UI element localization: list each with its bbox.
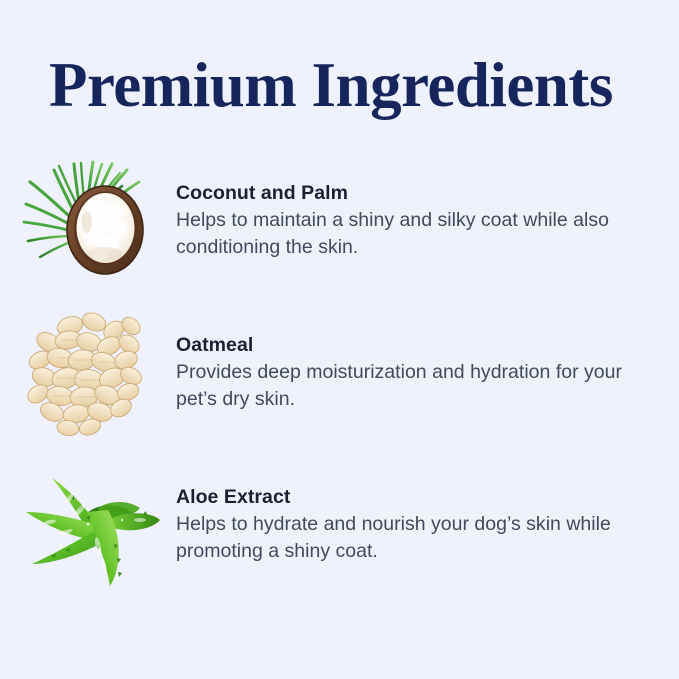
list-item: Coconut and Palm Helps to maintain a shi…	[0, 150, 679, 302]
ingredient-list: Coconut and Palm Helps to maintain a shi…	[0, 150, 679, 606]
ingredient-description: Helps to hydrate and nourish your dog’s …	[176, 511, 646, 564]
list-item: Oatmeal Provides deep moisturization and…	[0, 302, 679, 454]
ingredient-description: Provides deep moisturization and hydrati…	[176, 359, 646, 412]
oatmeal-icon	[10, 302, 165, 452]
coconut-and-palm-icon	[10, 150, 165, 300]
list-item: Aloe Extract Helps to hydrate and nouris…	[0, 454, 679, 606]
ingredient-text-block: Coconut and Palm Helps to maintain a shi…	[176, 180, 646, 260]
ingredient-name: Coconut and Palm	[176, 180, 646, 206]
premium-ingredients-panel: Premium Ingredients	[0, 0, 679, 679]
oat-flakes-shape	[24, 310, 144, 438]
ingredient-description: Helps to maintain a shiny and silky coat…	[176, 207, 646, 260]
ingredient-text-block: Aloe Extract Helps to hydrate and nouris…	[176, 484, 646, 564]
ingredient-name: Aloe Extract	[176, 484, 646, 510]
ingredient-name: Oatmeal	[176, 332, 646, 358]
page-title: Premium Ingredients	[49, 50, 629, 120]
aloe-vera-icon	[10, 454, 165, 604]
ingredient-text-block: Oatmeal Provides deep moisturization and…	[176, 332, 646, 412]
